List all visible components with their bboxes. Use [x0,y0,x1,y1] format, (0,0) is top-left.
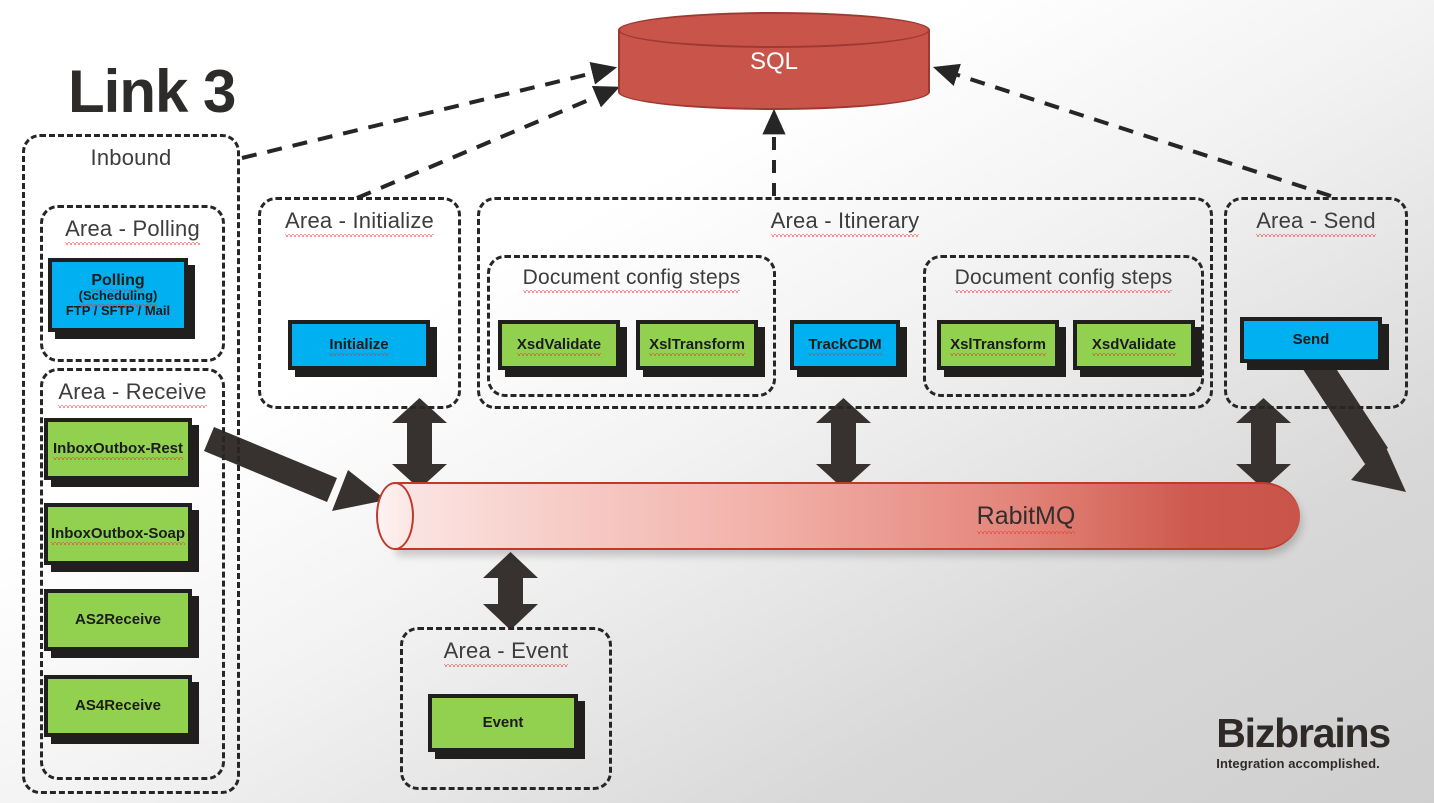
node-event-label: Event [483,715,524,732]
datastore-rabitmq[interactable]: RabitMQ [372,482,1300,550]
node-as2receive[interactable]: AS2Receive [44,589,192,651]
link-itinerary-to-queue [816,398,871,489]
node-xsltransform-1[interactable]: XslTransform [636,320,758,370]
node-inboxoutbox-rest[interactable]: InboxOutbox-Rest [44,418,192,480]
node-inboxoutbox-soap-label: InboxOutbox-Soap [51,526,185,543]
node-event[interactable]: Event [428,694,578,752]
node-xsltransform-2[interactable]: XslTransform [937,320,1059,370]
group-area-send[interactable]: Area - Send [1224,197,1408,409]
link-inbound-to-sql [242,68,614,158]
group-inbound-label: Inbound [25,145,237,171]
node-initialize[interactable]: Initialize [288,320,430,370]
node-polling-label: Polling [91,272,144,290]
brand-name: Bizbrains [1216,714,1390,753]
group-area-receive-label: Area - Receive [43,379,222,405]
datastore-sql[interactable]: SQL [618,12,930,112]
node-trackcdm[interactable]: TrackCDM [790,320,900,370]
page-title: Link 3 [68,62,235,122]
link-initialize-to-queue [392,398,447,489]
node-send-label: Send [1293,332,1330,349]
link-queue-to-event [483,552,538,630]
group-area-send-label: Area - Send [1227,208,1405,234]
node-xsdvalidate-2-label: XsdValidate [1092,337,1176,354]
node-trackcdm-label: TrackCDM [808,337,881,354]
group-doc-config-left-label: Document config steps [490,266,773,290]
link-send-to-queue [1236,398,1291,489]
diagram-canvas: Link 3 Inbound Area - Polling Polling (S… [0,0,1434,803]
brand-logo: Bizbrains Integration accomplished. [1216,714,1390,771]
link-initialize-to-sql [357,88,617,198]
node-xsltransform-2-label: XslTransform [950,337,1046,354]
node-as4receive[interactable]: AS4Receive [44,675,192,737]
node-xsltransform-1-label: XslTransform [649,337,745,354]
node-inboxoutbox-soap[interactable]: InboxOutbox-Soap [44,503,192,565]
queue-label: RabitMQ [372,482,1300,550]
brand-tagline: Integration accomplished. [1216,756,1390,771]
group-doc-config-right-label: Document config steps [926,266,1201,290]
node-as4receive-label: AS4Receive [75,698,161,715]
node-initialize-label: Initialize [329,337,388,354]
link-send-to-sql [936,68,1331,196]
node-as2receive-label: AS2Receive [75,612,161,629]
group-area-itinerary-label: Area - Itinerary [480,208,1210,234]
sql-label: SQL [618,12,930,112]
group-area-polling-label: Area - Polling [43,216,222,242]
node-xsdvalidate-1-label: XsdValidate [517,337,601,354]
node-polling-sublabel: (Scheduling) [79,289,158,304]
node-polling[interactable]: Polling (Scheduling) FTP / SFTP / Mail [48,258,188,332]
node-xsdvalidate-1[interactable]: XsdValidate [498,320,620,370]
group-area-event-label: Area - Event [403,638,609,664]
node-xsdvalidate-2[interactable]: XsdValidate [1073,320,1195,370]
group-area-initialize[interactable]: Area - Initialize [258,197,461,409]
node-inboxoutbox-rest-label: InboxOutbox-Rest [53,441,183,458]
node-send[interactable]: Send [1240,317,1382,363]
group-area-initialize-label: Area - Initialize [261,208,458,234]
